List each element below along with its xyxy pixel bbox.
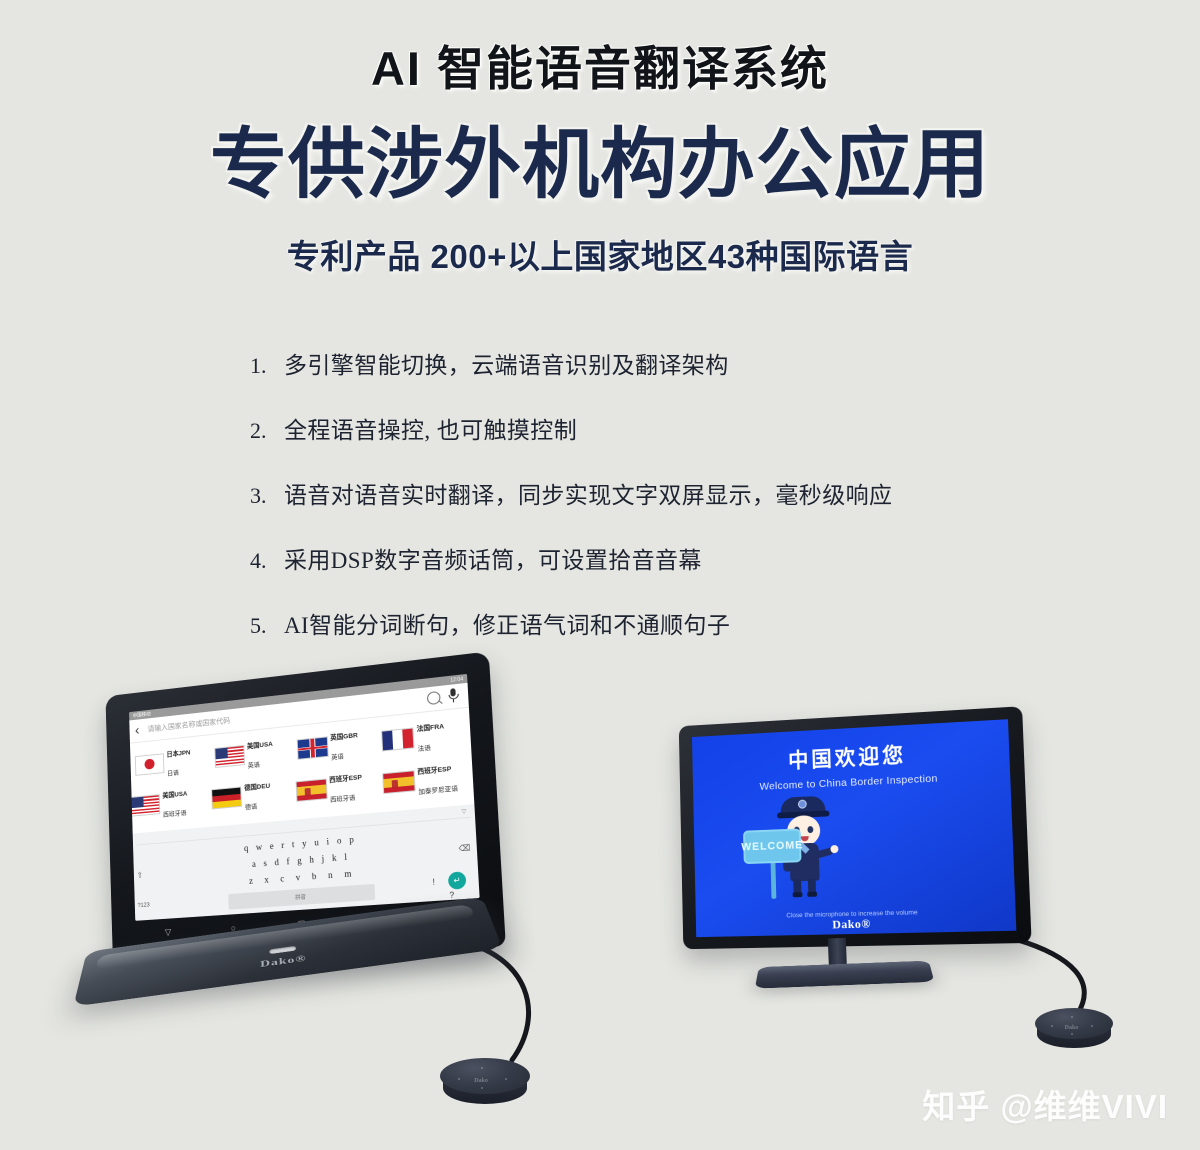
list-item-number: 3. [250, 483, 284, 509]
key-a[interactable]: a [252, 859, 256, 869]
main-headline: 专供涉外机构办公应用 [0, 125, 1200, 206]
brand-logo: Dako® [832, 916, 871, 932]
product-photo-scene: 中国移动 12:04 ‹ 请输入国家名称或国家代码 [0, 655, 1200, 1150]
page-title: AI 智能语音翻译系统 [0, 0, 1200, 99]
flag-language-label: 日语 [167, 770, 179, 778]
brand-logo: Dako [1065, 1025, 1079, 1031]
right-monitor-screen[interactable]: 中国欢迎您 Welcome to China Border Inspection [692, 719, 1016, 937]
list-item: 5. AI智能分词断句，修正语气词和不通顺句子 [250, 606, 1010, 640]
list-item[interactable]: 法国FRA 法语 [381, 712, 466, 760]
key-e[interactable]: e [270, 841, 274, 851]
welcome-title-cn: 中国欢迎您 [788, 739, 907, 775]
flag-country-label: 法国FRA [417, 723, 445, 733]
desk-microphone-left: Dako [440, 1058, 530, 1116]
desk-microphone-right: Dako [1035, 1008, 1113, 1058]
flag-france-icon [381, 727, 414, 751]
flag-language-label: 英语 [331, 753, 344, 761]
flag-language-label: 加泰罗尼亚语 [418, 785, 458, 796]
list-item[interactable]: 美国USA 英语 [214, 730, 293, 776]
key-numeric[interactable]: ?123 [138, 903, 150, 910]
brand-logo: Dako [474, 1078, 488, 1084]
list-item: 3. 语音对语音实时翻译，同步实现文字双屏显示，毫秒级响应 [250, 476, 1010, 510]
key-j[interactable]: j [321, 854, 324, 864]
flag-japan-icon [135, 753, 165, 776]
list-item: 4. 采用DSP数字音频话筒，可设置拾音音幕 [250, 541, 1010, 575]
key-s[interactable]: s [263, 858, 267, 868]
key-z[interactable]: z [249, 876, 253, 886]
mascot-area: WELCOME Close the microphone to increase… [693, 781, 1016, 937]
key-question[interactable]: ? [449, 890, 454, 899]
key-space[interactable]: 拼音 [228, 884, 375, 910]
key-d[interactable]: d [274, 857, 279, 867]
key-o[interactable]: o [337, 835, 342, 845]
key-f[interactable]: f [286, 856, 289, 866]
right-monitor-shell: 中国欢迎您 Welcome to China Border Inspection [679, 706, 1032, 949]
key-i[interactable]: i [326, 836, 329, 846]
list-item[interactable]: 德国DEU 德语 [211, 772, 291, 818]
flag-language-label: 德语 [245, 803, 257, 811]
base-slot [269, 946, 296, 954]
flag-country-label: 西班牙ESP [329, 774, 362, 784]
flag-country-label: 美国USA [247, 741, 273, 750]
list-item-number: 4. [250, 548, 284, 574]
flag-country-label: 英国GBR [330, 732, 358, 742]
key-shift[interactable]: ⇧ [137, 871, 143, 880]
key-enter[interactable]: ↵ [448, 871, 467, 890]
key-t[interactable]: t [292, 839, 295, 849]
key-b[interactable]: b [312, 871, 317, 881]
key-n[interactable]: n [328, 870, 333, 880]
flag-country-label: 德国DEU [244, 783, 270, 792]
welcome-sign-label: WELCOME [741, 839, 803, 853]
key-v[interactable]: v [296, 872, 301, 882]
key-g[interactable]: g [297, 855, 302, 865]
sign-post [771, 861, 777, 899]
key-delete[interactable]: ⌫ [458, 843, 470, 853]
key-x[interactable]: x [264, 875, 269, 885]
watermark: 知乎 @维维VIVI [922, 1080, 1168, 1128]
flag-language-label: 法语 [418, 745, 431, 753]
list-item[interactable]: 英国GBR 英语 [296, 722, 378, 769]
key-w[interactable]: w [256, 842, 263, 852]
flag-language-label: 英语 [248, 762, 260, 770]
key-h[interactable]: h [309, 854, 314, 864]
left-tablet-device: 中国移动 12:04 ‹ 请输入国家名称或国家代码 [67, 648, 515, 1011]
poster-page: AI 智能语音翻译系统 专供涉外机构办公应用 专利产品 200+以上国家地区43… [0, 0, 1200, 1150]
list-item-label: AI智能分词断句，修正语气词和不通顺句子 [284, 606, 730, 640]
list-item-number: 5. [250, 613, 284, 639]
left-tablet-screen[interactable]: 中国移动 12:04 ‹ 请输入国家名称或国家代码 [129, 674, 480, 921]
key-m[interactable]: m [344, 868, 351, 878]
list-item: 1. 多引擎智能切换，云端语音识别及翻译架构 [250, 346, 1010, 380]
flag-country-label: 美国USA [162, 791, 187, 800]
list-item-label: 采用DSP数字音频话筒，可设置拾音音幕 [284, 541, 702, 575]
flag-usa-icon [131, 794, 161, 816]
list-item[interactable]: 美国USA 西班牙语 [130, 780, 207, 825]
feature-list: 1. 多引擎智能切换，云端语音识别及翻译架构 2. 全程语音操控, 也可触摸控制… [250, 346, 1010, 640]
list-item: 2. 全程语音操控, 也可触摸控制 [250, 411, 1010, 445]
key-k[interactable]: k [332, 853, 337, 863]
key-u[interactable]: u [314, 837, 319, 847]
right-monitor-device: 中国欢迎您 Welcome to China Border Inspection [669, 708, 1060, 1022]
key-l[interactable]: l [344, 852, 347, 862]
flag-language-label: 西班牙语 [330, 795, 356, 804]
key-exclaim[interactable]: ! [432, 878, 435, 887]
flag-country-label: 日本JPN [166, 750, 190, 759]
key-c[interactable]: c [280, 873, 284, 883]
flag-spain-icon [382, 770, 415, 794]
list-item-number: 2. [250, 418, 284, 444]
flag-usa-icon [214, 744, 245, 767]
list-item-number: 1. [250, 353, 284, 379]
flag-spain-icon [295, 778, 327, 801]
monitor-stand-base [755, 961, 935, 989]
key-q[interactable]: q [244, 843, 249, 853]
flag-germany-icon [211, 786, 242, 809]
search-icon[interactable] [427, 691, 441, 705]
back-triangle-icon[interactable]: ▽ [165, 927, 172, 938]
welcome-sign: WELCOME [743, 828, 802, 864]
list-item-label: 多引擎智能切换，云端语音识别及翻译架构 [284, 346, 729, 380]
flag-country-label: 西班牙ESP [417, 766, 451, 776]
flag-uk-icon [296, 736, 328, 759]
list-item-label: 全程语音操控, 也可触摸控制 [284, 411, 577, 445]
key-y[interactable]: y [302, 838, 307, 848]
key-r[interactable]: r [281, 840, 284, 850]
list-item[interactable]: 日本JPN 日语 [135, 739, 211, 784]
microphone-icon[interactable] [446, 688, 460, 704]
list-item[interactable]: 西班牙ESP 西班牙语 [295, 764, 379, 811]
key-p[interactable]: p [349, 834, 354, 844]
list-item[interactable]: 西班牙ESP 加泰罗尼亚语 [381, 755, 468, 803]
status-bar-time: 12:04 [450, 676, 463, 683]
back-chevron-icon[interactable]: ‹ [135, 723, 140, 737]
flag-language-label: 西班牙语 [163, 810, 187, 819]
sub-headline: 专利产品 200+以上国家地区43种国际语言 [0, 230, 1200, 278]
list-item-label: 语音对语音实时翻译，同步实现文字双屏显示，毫秒级响应 [284, 476, 892, 510]
brand-logo: Dako® [260, 953, 307, 970]
